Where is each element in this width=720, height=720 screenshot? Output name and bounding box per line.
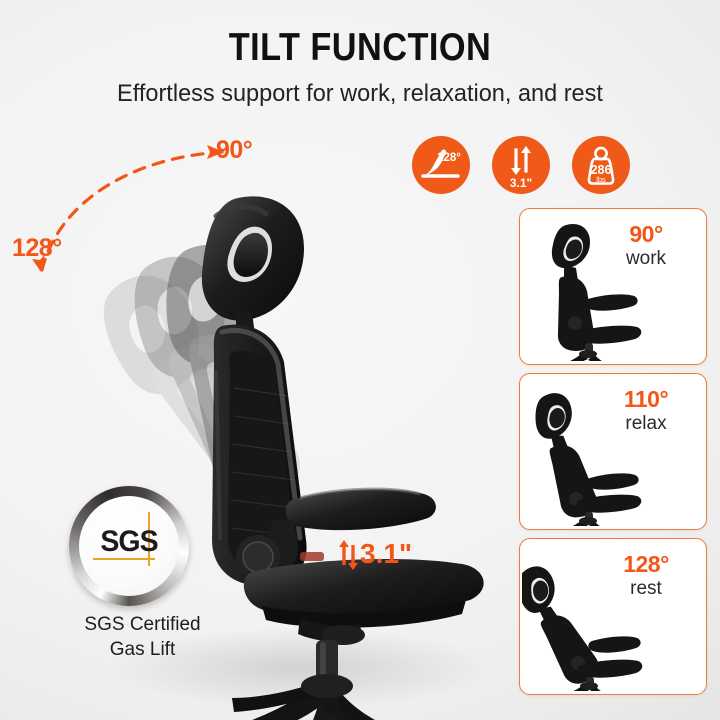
infographic-canvas: TILT FUNCTION Effortless support for wor… [0, 0, 720, 720]
badge-unit-3: lbs [596, 175, 606, 184]
panel-angle-3: 128° [600, 551, 692, 578]
panel-angle-2: 110° [600, 386, 692, 413]
weight-icon: 286 lbs [572, 136, 630, 194]
position-panel-rest: 128° rest [519, 538, 707, 695]
panel-name-2: relax [600, 413, 692, 435]
angle-label-90: 90° [216, 136, 252, 165]
position-panel-relax: 110° relax [519, 373, 707, 530]
panel-name-3: rest [600, 578, 692, 600]
sgs-logo-face: SGS [79, 496, 179, 596]
sgs-caption-line1: SGS Certified [55, 612, 230, 637]
sgs-caption: SGS Certified Gas Lift [55, 612, 230, 662]
position-panel-work: 90° work [519, 208, 707, 365]
sgs-logo-text: SGS [82, 525, 177, 559]
lift-height-label: 3.1" [360, 538, 412, 570]
lift-arrow-icon [338, 538, 358, 572]
sgs-logo-ring: SGS [69, 486, 189, 606]
spec-badge-weight-capacity: 286 lbs [572, 136, 630, 194]
panel-angle-1: 90° [600, 221, 692, 248]
page-title: TILT FUNCTION [43, 26, 677, 70]
angle-label-128: 128° [12, 234, 62, 263]
sgs-certification: SGS SGS Certified Gas Lift [55, 486, 230, 641]
panel-name-1: work [600, 248, 692, 270]
sgs-caption-line2: Gas Lift [55, 637, 230, 662]
page-subtitle: Effortless support for work, relaxation,… [14, 80, 705, 108]
arc-dashed-line [42, 152, 222, 270]
